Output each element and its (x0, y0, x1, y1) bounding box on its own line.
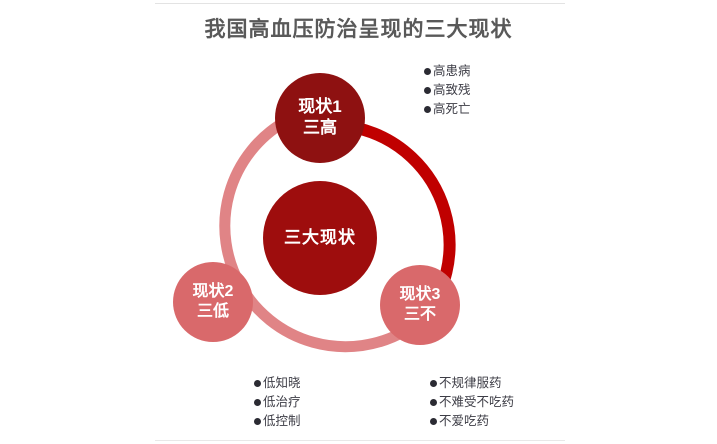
list-item: 不难受不吃药 (430, 393, 514, 412)
bullet-dot-icon (424, 87, 431, 94)
list-item: 低治疗 (254, 393, 301, 412)
list-item-label: 低治疗 (263, 393, 301, 412)
slide-canvas: 我国高血压防治呈现的三大现状 三大现状 现状1 三高 现状2 三低 现状3 三不 (0, 0, 717, 444)
list-item-label: 低知晓 (263, 374, 301, 393)
node-3[interactable]: 现状3 三不 (380, 265, 460, 345)
list-item-label: 高死亡 (433, 100, 471, 119)
bullet-dot-icon (254, 418, 261, 425)
node-3-label-line2: 三不 (404, 305, 436, 325)
annotation-bottom-right: 不规律服药 不难受不吃药 不爱吃药 (430, 374, 514, 431)
node-1-label-line1: 现状1 (298, 97, 341, 118)
list-item-label: 不爱吃药 (439, 412, 489, 431)
list-item-label: 低控制 (263, 412, 301, 431)
bullet-dot-icon (254, 399, 261, 406)
list-item: 不爱吃药 (430, 412, 514, 431)
annotation-top-right: 高患病 高致残 高死亡 (424, 62, 471, 119)
list-item: 不规律服药 (430, 374, 514, 393)
node-2-label-line2: 三低 (197, 302, 229, 322)
list-item: 高致残 (424, 81, 471, 100)
annotation-bottom-left: 低知晓 低治疗 低控制 (254, 374, 301, 431)
cycle-diagram: 三大现状 现状1 三高 现状2 三低 现状3 三不 高患病 高致残 (0, 0, 717, 444)
node-1-label-line2: 三高 (303, 118, 337, 139)
node-2[interactable]: 现状2 三低 (173, 262, 253, 342)
list-item: 低知晓 (254, 374, 301, 393)
list-item: 高患病 (424, 62, 471, 81)
bullet-dot-icon (430, 418, 437, 425)
bullet-dot-icon (424, 68, 431, 75)
node-2-label-line1: 现状2 (193, 282, 234, 302)
node-1[interactable]: 现状1 三高 (275, 73, 365, 163)
list-item: 高死亡 (424, 100, 471, 119)
bullet-dot-icon (430, 399, 437, 406)
list-item-label: 不难受不吃药 (439, 393, 514, 412)
bullet-dot-icon (254, 380, 261, 387)
list-item-label: 高致残 (433, 81, 471, 100)
bullet-dot-icon (424, 106, 431, 113)
list-item: 低控制 (254, 412, 301, 431)
bullet-dot-icon (430, 380, 437, 387)
list-item-label: 不规律服药 (439, 374, 502, 393)
center-node[interactable]: 三大现状 (263, 181, 377, 295)
node-3-label-line1: 现状3 (400, 285, 441, 305)
center-node-label: 三大现状 (284, 228, 356, 249)
list-item-label: 高患病 (433, 62, 471, 81)
